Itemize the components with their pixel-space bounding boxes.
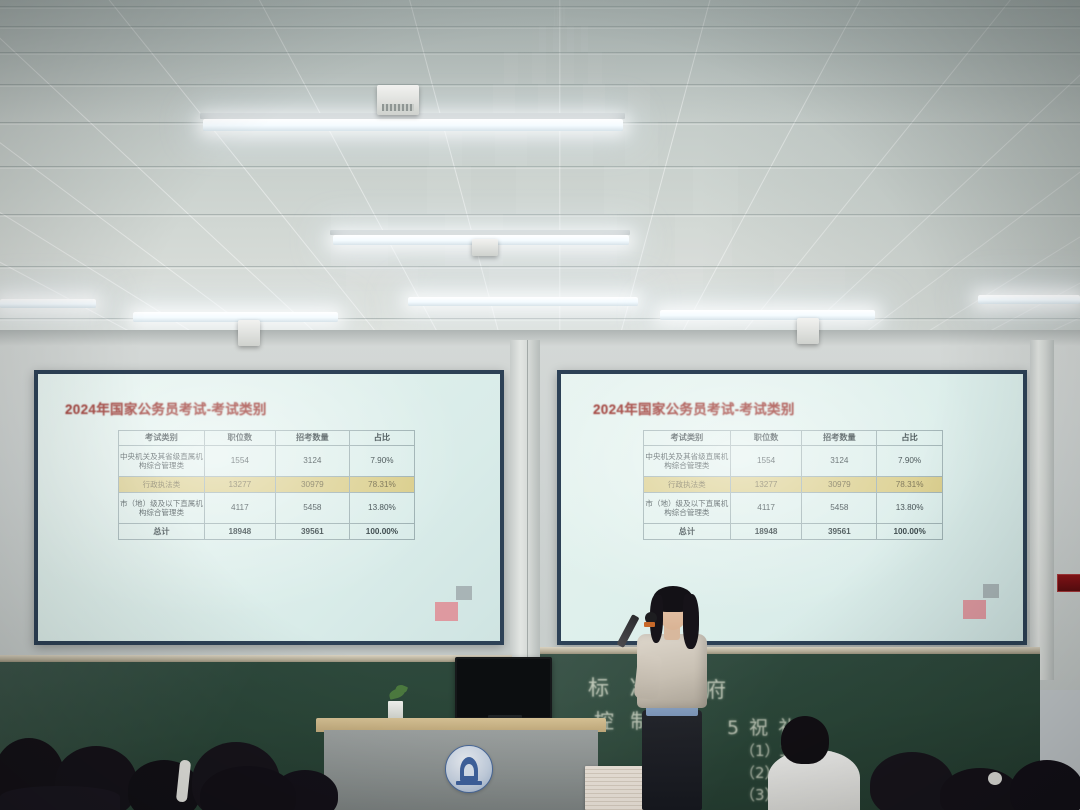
cell-recruits: 3124 <box>802 446 877 477</box>
slide-table-right: 考试类别职位数招考数量占比中央机关及其省级直属机构综合管理类155431247.… <box>643 430 943 540</box>
screen-sticker-gray <box>456 586 472 600</box>
wall-pillar-right <box>1030 340 1054 680</box>
table-row: 行政执法类132773097978.31% <box>644 477 943 493</box>
screen-sticker-gray-2 <box>983 584 999 598</box>
table-row: 中央机关及其省级直属机构综合管理类155431247.90% <box>119 446 415 477</box>
cell-share: 78.31% <box>877 477 943 493</box>
cell-category: 行政执法类 <box>119 477 205 493</box>
cell-category: 中央机关及其省级直属机构综合管理类 <box>119 446 205 477</box>
cell-total-share: 100.00% <box>877 524 943 540</box>
screen-sticker-pink <box>435 602 458 621</box>
table-row: 中央机关及其省级直属机构综合管理类155431247.90% <box>644 446 943 477</box>
projection-screen-left: 2024年国家公务员考试-考试类别 考试类别职位数招考数量占比中央机关及其省级直… <box>34 370 504 645</box>
cell-total-positions: 18948 <box>730 524 802 540</box>
lecture-hall-photo: 2024年国家公务员考试-考试类别 考试类别职位数招考数量占比中央机关及其省级直… <box>0 0 1080 810</box>
exit-sign <box>1057 574 1080 592</box>
table-total-row: 总计1894839561100.00% <box>119 524 415 540</box>
cell-share: 13.80% <box>877 493 943 524</box>
screen-sticker-pink-2 <box>963 600 986 619</box>
col-header-0: 考试类别 <box>119 431 205 446</box>
cell-share: 7.90% <box>877 446 943 477</box>
cell-total-label: 总计 <box>119 524 205 540</box>
projection-screen-right: 2024年国家公务员考试-考试类别 考试类别职位数招考数量占比中央机关及其省级直… <box>557 370 1027 645</box>
ceiling-light-4 <box>133 312 338 322</box>
microphone-band <box>644 622 655 627</box>
table-row: 市（地）级及以下直属机构综合管理类4117545813.80% <box>644 493 943 524</box>
cell-positions: 4117 <box>730 493 802 524</box>
ceiling-light-5 <box>408 297 638 306</box>
col-header-1: 职位数 <box>204 431 275 446</box>
cell-share: 7.90% <box>349 446 414 477</box>
cell-category: 中央机关及其省级直属机构综合管理类 <box>644 446 731 477</box>
cell-recruits: 30979 <box>275 477 349 493</box>
cell-recruits: 3124 <box>275 446 349 477</box>
col-header-2: 招考数量 <box>802 431 877 446</box>
table-row: 行政执法类132773097978.31% <box>119 477 415 493</box>
paper-stack <box>585 766 647 810</box>
cell-category: 市（地）级及以下直属机构综合管理类 <box>644 493 731 524</box>
cell-total-recruits: 39561 <box>802 524 877 540</box>
cell-recruits: 30979 <box>802 477 877 493</box>
cell-positions: 4117 <box>204 493 275 524</box>
speaker-hair-right <box>683 594 699 649</box>
col-header-1: 职位数 <box>730 431 802 446</box>
ceiling-device <box>377 85 419 115</box>
cell-positions: 13277 <box>204 477 275 493</box>
chalk-rail-right <box>540 647 1040 654</box>
university-emblem <box>445 745 493 793</box>
cell-share: 13.80% <box>349 493 414 524</box>
table-header-row: 考试类别职位数招考数量占比 <box>119 431 415 446</box>
slide-table-left: 考试类别职位数招考数量占比中央机关及其省级直属机构综合管理类155431247.… <box>118 430 415 540</box>
chalk-note-2: 府 <box>705 674 726 704</box>
table-total-row: 总计1894839561100.00% <box>644 524 943 540</box>
slide-title-left: 2024年国家公务员考试-考试类别 <box>65 398 267 418</box>
col-header-3: 占比 <box>349 431 414 446</box>
cell-recruits: 5458 <box>802 493 877 524</box>
cell-recruits: 5458 <box>275 493 349 524</box>
podium-monitor <box>455 657 552 719</box>
projector-right <box>797 318 819 344</box>
chalk-rail-left <box>0 655 512 662</box>
col-header-3: 占比 <box>877 431 943 446</box>
table-row: 市（地）级及以下直属机构综合管理类4117545813.80% <box>119 493 415 524</box>
slide-title-right: 2024年国家公务员考试-考试类别 <box>593 398 795 418</box>
cell-positions: 1554 <box>204 446 275 477</box>
cell-share: 78.31% <box>349 477 414 493</box>
cell-category: 市（地）级及以下直属机构综合管理类 <box>119 493 205 524</box>
audience-shoulders <box>0 786 120 810</box>
cell-total-label: 总计 <box>644 524 731 540</box>
ceiling-light-3 <box>0 299 96 308</box>
plant-pot <box>388 701 403 719</box>
ceiling-light-6 <box>660 310 875 320</box>
speaker-skirt <box>642 710 702 810</box>
cell-positions: 13277 <box>730 477 802 493</box>
table-header-row: 考试类别职位数招考数量占比 <box>644 431 943 446</box>
ceiling-light-7 <box>978 295 1080 304</box>
cell-positions: 1554 <box>730 446 802 477</box>
cell-category: 行政执法类 <box>644 477 731 493</box>
col-header-0: 考试类别 <box>644 431 731 446</box>
ceiling-light-1 <box>203 119 623 131</box>
cell-total-positions: 18948 <box>204 524 275 540</box>
audience-hairband-2 <box>988 772 1002 785</box>
ceiling <box>0 0 1080 340</box>
projector-left <box>238 320 260 346</box>
speaker-arm <box>634 654 662 700</box>
col-header-2: 招考数量 <box>275 431 349 446</box>
attendee-white-shirt-head <box>781 716 829 764</box>
wall-pillar-center <box>510 340 540 675</box>
cell-total-share: 100.00% <box>349 524 414 540</box>
cell-total-recruits: 39561 <box>275 524 349 540</box>
ceiling-device-2 <box>472 239 498 256</box>
